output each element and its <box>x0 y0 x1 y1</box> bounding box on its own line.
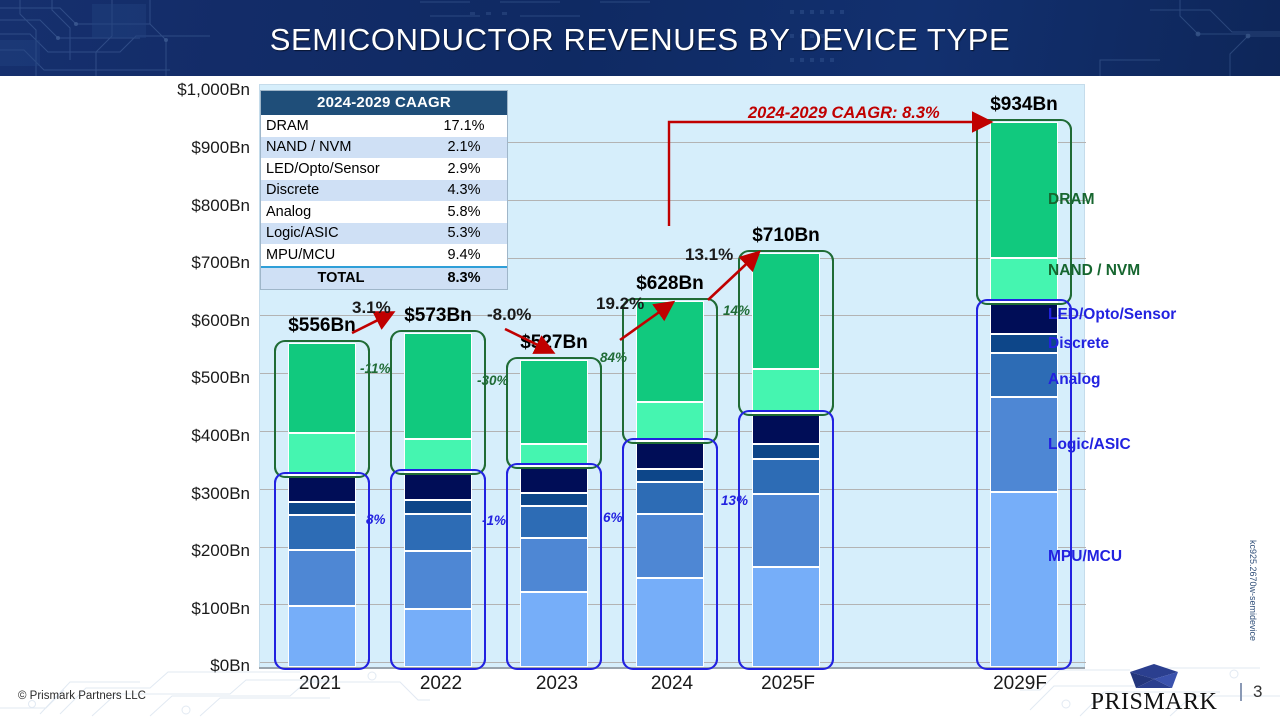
total-growth-label: 13.1% <box>685 245 733 265</box>
caagr-total-label: TOTAL <box>261 270 421 286</box>
y-tick-label: $700Bn <box>148 253 250 273</box>
logic-growth-label: 13% <box>721 493 748 508</box>
logo-wordmark: PRISMARK <box>1074 690 1234 714</box>
table-row: LED/Opto/Sensor 2.9% <box>261 158 507 180</box>
logic-brace-cap <box>390 469 486 483</box>
legend-item-discrete: Discrete <box>1048 335 1109 353</box>
y-tick-label: $400Bn <box>148 426 250 446</box>
caagr-row-value: 2.9% <box>421 161 507 177</box>
caagr-row-label: Analog <box>261 204 421 220</box>
legend-item-analog: Analog <box>1048 371 1101 389</box>
caagr-row-label: DRAM <box>261 118 421 134</box>
copyright-label: © Prismark Partners LLC <box>18 690 146 702</box>
caagr-row-label: Discrete <box>261 182 421 198</box>
logic-brace-cap <box>622 656 718 670</box>
legend-item-dram: DRAM <box>1048 191 1095 209</box>
logic-brace-cap <box>622 438 718 452</box>
memory-growth-label: 84% <box>600 350 627 365</box>
logic-brace <box>976 299 1072 670</box>
caagr-row-value: 2.1% <box>421 139 507 155</box>
memory-growth-label: -11% <box>360 361 391 376</box>
page-number-divider <box>1240 683 1242 701</box>
caagr-row-value: 9.4% <box>421 247 507 263</box>
caagr-callout-label: 2024-2029 CAAGR: 8.3% <box>748 104 940 123</box>
logic-growth-label: -1% <box>482 513 506 528</box>
total-growth-label: 19.2% <box>596 294 644 314</box>
caagr-row-label: MPU/MCU <box>261 247 421 263</box>
logic-brace-cap <box>506 463 602 477</box>
memory-brace <box>506 357 602 470</box>
slide: SEMICONDUCTOR REVENUES BY DEVICE TYPE $1… <box>0 0 1280 717</box>
caagr-row-value: 5.3% <box>421 225 507 241</box>
total-growth-label: -8.0% <box>487 305 531 325</box>
table-row: MPU/MCU 9.4% <box>261 244 507 266</box>
caagr-table-header: 2024-2029 CAAGR <box>261 91 507 115</box>
bar-total-label: $628Bn <box>590 273 750 295</box>
memory-brace-cap <box>506 357 602 371</box>
caagr-row-label: NAND / NVM <box>261 139 421 155</box>
logic-brace-cap <box>274 472 370 486</box>
total-growth-label: 3.1% <box>352 298 391 318</box>
x-tick-label: 2023 <box>497 673 617 695</box>
memory-brace-cap <box>274 340 370 354</box>
y-tick-label: $800Bn <box>148 196 250 216</box>
y-tick-label: $100Bn <box>148 599 250 619</box>
memory-brace-cap <box>390 330 486 344</box>
caagr-table: 2024-2029 CAAGR DRAM 17.1% NAND / NVM 2.… <box>260 90 508 290</box>
caagr-total-value: 8.3% <box>421 270 507 286</box>
x-tick-label: 2024 <box>612 673 732 695</box>
memory-brace-cap <box>738 250 834 264</box>
page-number: 3 <box>1253 682 1262 702</box>
memory-brace <box>738 250 834 416</box>
y-tick-label: $200Bn <box>148 541 250 561</box>
caagr-row-value: 17.1% <box>421 118 507 134</box>
legend-item-led-opto-sensor: LED/Opto/Sensor <box>1048 306 1176 324</box>
memory-brace <box>622 298 718 445</box>
y-tick-label: $300Bn <box>148 484 250 504</box>
memory-growth-label: -30% <box>477 373 509 388</box>
prismark-mark-icon <box>1128 663 1180 689</box>
caagr-row-value: 4.3% <box>421 182 507 198</box>
caagr-row-label: Logic/ASIC <box>261 225 421 241</box>
memory-brace <box>390 330 486 475</box>
logic-brace <box>738 410 834 670</box>
memory-brace <box>274 340 370 478</box>
y-tick-label: $900Bn <box>148 138 250 158</box>
y-tick-label: $1,000Bn <box>148 80 250 100</box>
y-tick-label: $600Bn <box>148 311 250 331</box>
logic-brace <box>506 463 602 670</box>
prismark-logo: PRISMARK PARTNERS LLC EST. 1994 <box>1074 663 1234 717</box>
logic-brace <box>274 472 370 670</box>
caagr-arrow-icon <box>660 108 1020 233</box>
logic-growth-label: 8% <box>366 512 386 527</box>
legend-item-mpu-mcu: MPU/MCU <box>1048 548 1122 566</box>
table-row: NAND / NVM 2.1% <box>261 137 507 159</box>
logic-brace-cap <box>506 656 602 670</box>
table-row: Logic/ASIC 5.3% <box>261 223 507 245</box>
page-title: SEMICONDUCTOR REVENUES BY DEVICE TYPE <box>0 22 1280 58</box>
logic-brace-cap <box>738 656 834 670</box>
table-row-total: TOTAL 8.3% <box>261 266 507 289</box>
legend-item-nand: NAND / NVM <box>1048 262 1140 280</box>
caagr-row-value: 5.8% <box>421 204 507 220</box>
logic-growth-label: 6% <box>603 510 623 525</box>
logic-brace <box>622 438 718 670</box>
caagr-row-label: LED/Opto/Sensor <box>261 161 421 177</box>
y-tick-label: $500Bn <box>148 368 250 388</box>
slide-header: SEMICONDUCTOR REVENUES BY DEVICE TYPE <box>0 0 1280 76</box>
document-code-label: kc925.2670w-semidevice <box>1248 540 1258 641</box>
table-row: Discrete 4.3% <box>261 180 507 202</box>
x-tick-label: 2025F <box>728 673 848 695</box>
logic-brace-cap <box>738 410 834 424</box>
table-row: DRAM 17.1% <box>261 115 507 137</box>
legend-item-logic-asic: Logic/ASIC <box>1048 436 1131 454</box>
logic-brace <box>390 469 486 670</box>
memory-growth-label: 14% <box>723 303 750 318</box>
table-row: Analog 5.8% <box>261 201 507 223</box>
